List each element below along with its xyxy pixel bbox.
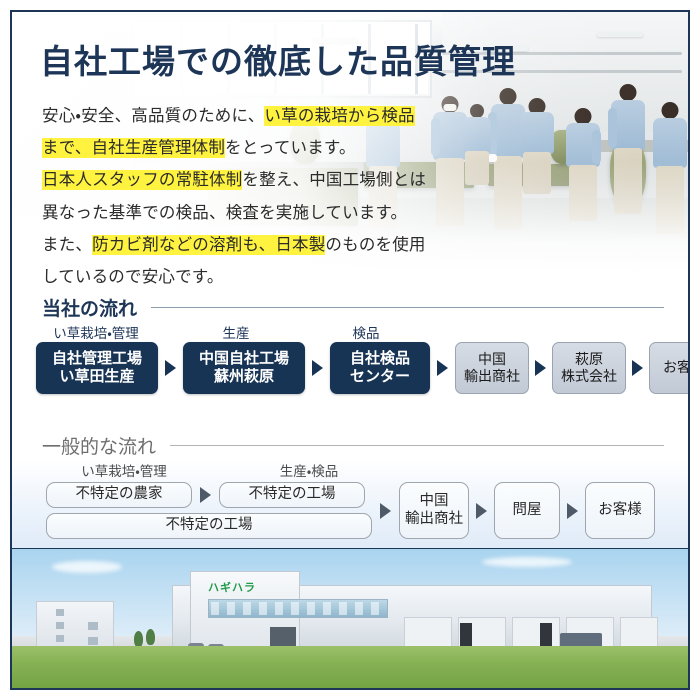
section-rule [151, 307, 664, 308]
section-heading-our-flow: 当社の流れ [42, 294, 664, 321]
body-text: 異なった基準での検品、検査を実施しています。 [42, 204, 407, 222]
section-title-our-flow: 当社の流れ [42, 294, 137, 321]
photo-loading-dock [620, 617, 658, 649]
photo-glass-facade [208, 599, 388, 618]
flow-arrow-icon [312, 360, 323, 376]
our-flow-row: 自社管理工場 い草田生産 中国自社工場 蘇州萩原 自社検品 センター 中国 輸出… [36, 342, 690, 394]
building-sign-text: ハギハラ [208, 579, 256, 595]
flow-step-unspecified-farmer: 不特定の農家 [46, 482, 192, 508]
hagihara-factory-photo: ハギハラ [12, 548, 690, 688]
flow-step-hagihara: 萩原 株式会社 [552, 342, 626, 394]
flow-arrow-icon [535, 360, 546, 376]
highlighted-text: 日本人スタッフの常駐体制 [42, 170, 242, 190]
intro-line: 安心・安全、高品質のために、い草の栽培から検品 [42, 100, 472, 132]
flow-arrow-icon [632, 360, 643, 376]
body-text: しているので安心です。 [42, 268, 224, 286]
photo-grass-field [12, 646, 690, 688]
caption-cultivation-general: い草栽培・管理 [54, 460, 194, 480]
body-text: のものを使用 [325, 236, 425, 254]
flow-step-china-exporter-general: 中国 輸出商社 [399, 482, 469, 539]
general-flow-captions: い草栽培・管理 生産・検品 [12, 460, 690, 480]
highlighted-text: い草の栽培から検品 [264, 106, 414, 126]
flow-step-china-exporter: 中国 輸出商社 [455, 342, 529, 394]
our-flow-captions: い草栽培・管理 生産 検品 [12, 322, 690, 342]
photo-loading-dock [512, 617, 560, 649]
caption-cultivation: い草栽培・管理 [34, 322, 158, 342]
intro-line: また、防カビ剤などの溶剤も、日本製のものを使用 [42, 229, 472, 261]
section-title-general-flow: 一般的な流れ [42, 432, 156, 459]
intro-line: しているので安心です。 [42, 261, 472, 293]
infographic-frame: 自社工場での徹底した品質管理 安心・安全、高品質のために、い草の栽培から検品まで… [10, 10, 690, 690]
photo-window [88, 622, 98, 630]
flow-step-unspecified-factory: 不特定の工場 [219, 482, 365, 508]
caption-production-inspection-general: 生産・検品 [234, 460, 384, 480]
flow-step-customer: お客様 [649, 342, 690, 394]
flow-arrow-icon [200, 487, 211, 503]
flow-arrow-icon [437, 360, 448, 376]
flow-arrow-icon [567, 503, 578, 519]
photo-window [56, 635, 64, 642]
flow-arrow-icon [380, 503, 391, 519]
general-flow-wide-row: 不特定の工場 [46, 513, 372, 539]
highlighted-text: 防カビ剤などの溶剤も、日本製 [92, 235, 325, 255]
general-flow-top-row: 不特定の農家 不特定の工場 [46, 482, 365, 508]
body-text: また、 [42, 236, 92, 254]
flow-step-wholesaler: 問屋 [494, 482, 560, 539]
intro-line: まで、自社生産管理体制をとっています。 [42, 132, 472, 164]
photo-loading-dock [404, 617, 452, 649]
section-rule [170, 445, 664, 446]
photo-cloud [482, 557, 572, 567]
body-text: を整え、中国工場側とは [242, 171, 426, 189]
caption-production: 生産 [174, 322, 298, 342]
intro-line: 異なった基準での検品、検査を実施しています。 [42, 197, 472, 229]
section-heading-general-flow: 一般的な流れ [42, 432, 664, 459]
photo-tree [134, 631, 143, 647]
photo-window [56, 622, 64, 629]
highlighted-text: まで、自社生産管理体制 [42, 138, 225, 158]
flow-step-inspection-center: 自社検品 センター [330, 342, 430, 394]
flow-arrow-icon [165, 360, 176, 376]
body-text: をとっています。 [225, 139, 356, 157]
intro-line: 日本人スタッフの常駐体制を整え、中国工場側とは [42, 164, 472, 196]
flow-step-customer-general: お客様 [585, 482, 655, 539]
photo-window [88, 637, 98, 645]
photo-cloud [52, 561, 122, 573]
general-flow-tail-row: 中国 輸出商社 問屋 お客様 [380, 482, 655, 539]
flow-step-own-factory: 自社管理工場 い草田生産 [36, 342, 158, 394]
body-text: 安心・安全、高品質のために、 [42, 107, 264, 125]
page-title: 自社工場での徹底した品質管理 [40, 44, 516, 80]
photo-window [56, 609, 64, 616]
flow-arrow-icon [476, 503, 487, 519]
caption-inspection: 検品 [304, 322, 428, 342]
flow-step-china-own-factory: 中国自社工場 蘇州萩原 [183, 342, 305, 394]
photo-tree [146, 629, 155, 645]
intro-paragraph: 安心・安全、高品質のために、い草の栽培から検品まで、自社生産管理体制をとっていま… [42, 100, 472, 293]
flow-step-unspecified-factory-wide: 不特定の工場 [46, 513, 372, 539]
